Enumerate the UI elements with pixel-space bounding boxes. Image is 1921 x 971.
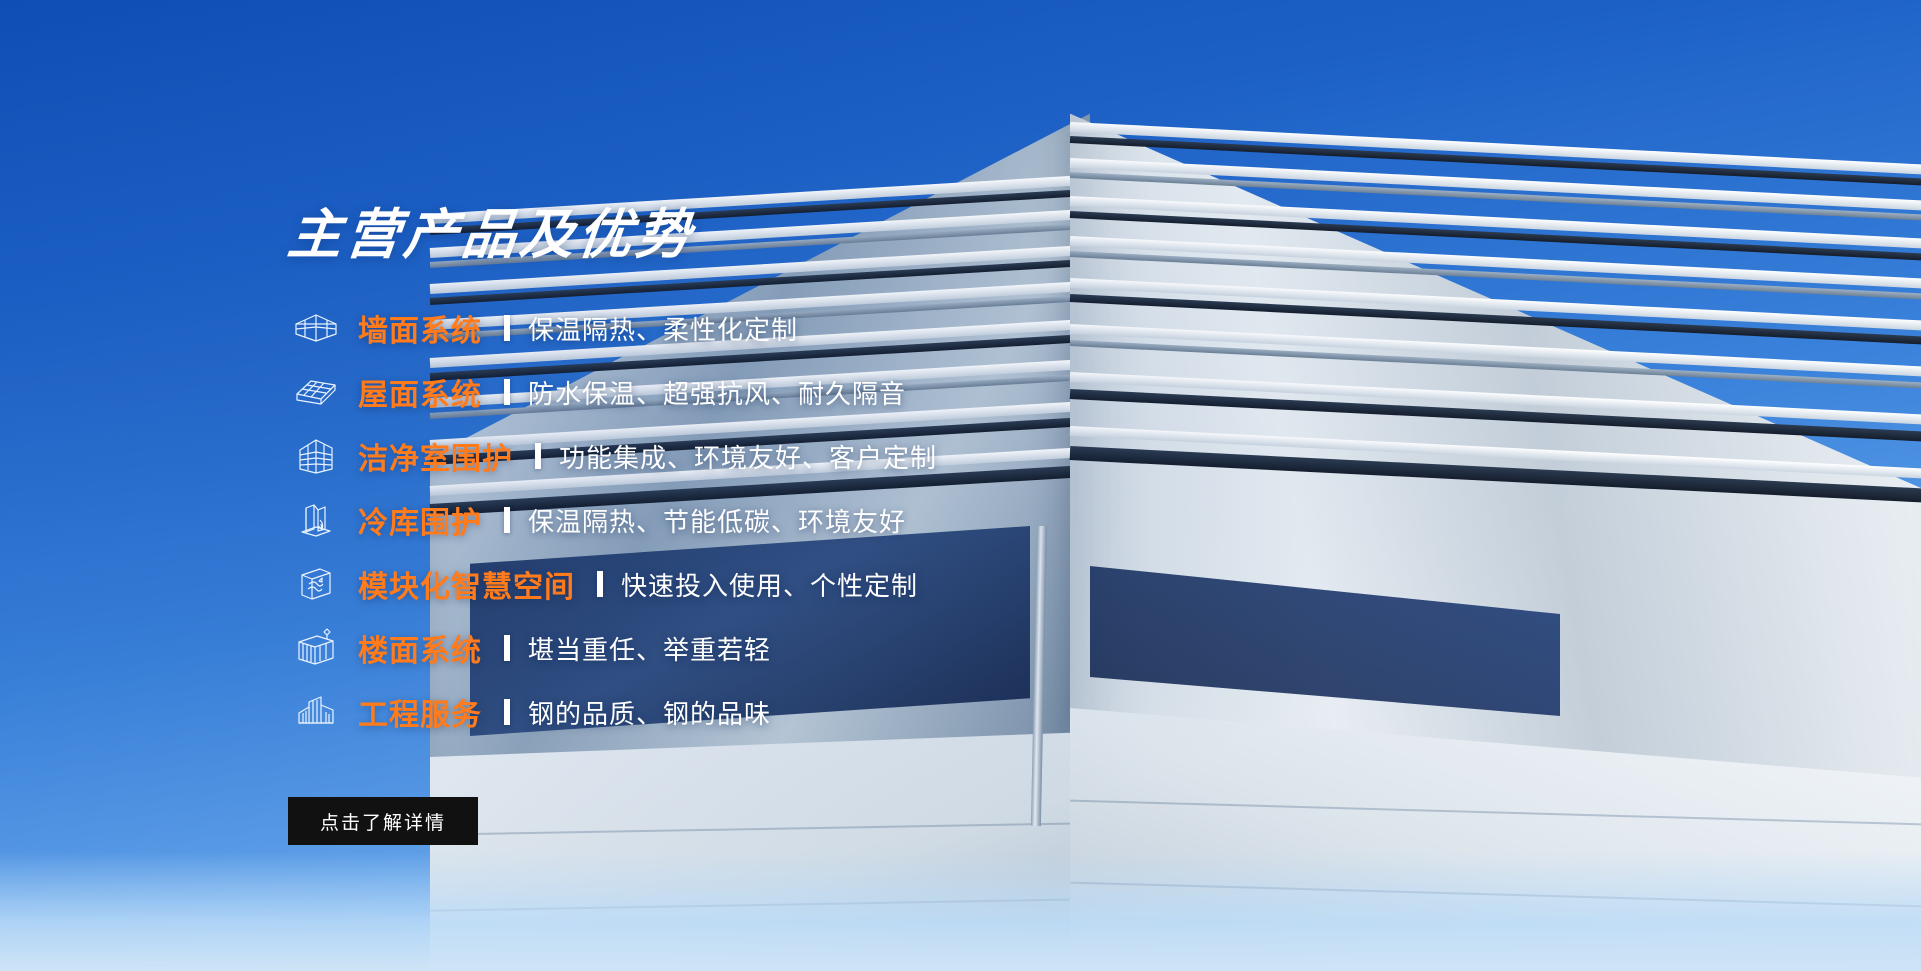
product-title: 楼面系统 — [358, 626, 482, 670]
learn-more-button[interactable]: 点击了解详情 — [288, 797, 478, 845]
wall-panel-icon — [288, 306, 344, 350]
hero-content: 主营产品及优势 墙面系统 保温隔热、柔性化定制 — [0, 0, 1921, 971]
row-divider — [535, 443, 541, 469]
roof-panel-icon — [288, 370, 344, 414]
product-row-modular-smart-space[interactable]: 模块化智慧空间 快速投入使用、个性定制 — [288, 552, 1288, 616]
product-row-floor-system[interactable]: 楼面系统 堪当重任、举重若轻 — [288, 616, 1288, 680]
product-row-wall-system[interactable]: 墙面系统 保温隔热、柔性化定制 — [288, 296, 1288, 360]
floor-system-icon — [288, 626, 344, 670]
cold-storage-icon — [288, 498, 344, 542]
product-title: 工程服务 — [358, 690, 482, 734]
product-row-cold-storage[interactable]: 冷库围护 保温隔热、节能低碳、环境友好 — [288, 488, 1288, 552]
row-divider — [504, 699, 510, 725]
row-divider — [504, 507, 510, 533]
hero-banner: 主营产品及优势 墙面系统 保温隔热、柔性化定制 — [0, 0, 1921, 971]
product-title: 冷库围护 — [358, 498, 482, 542]
product-list: 墙面系统 保温隔热、柔性化定制 屋面系统 防水保温、超强抗风、 — [288, 296, 1288, 744]
cleanroom-building-icon — [288, 434, 344, 478]
product-row-engineering-service[interactable]: 工程服务 钢的品质、钢的品味 — [288, 680, 1288, 744]
product-title: 屋面系统 — [358, 370, 482, 414]
row-divider — [597, 571, 603, 597]
row-divider — [504, 635, 510, 661]
product-desc: 防水保温、超强抗风、耐久隔音 — [528, 374, 906, 411]
product-row-roof-system[interactable]: 屋面系统 防水保温、超强抗风、耐久隔音 — [288, 360, 1288, 424]
product-title: 墙面系统 — [358, 306, 482, 350]
row-divider — [504, 379, 510, 405]
modular-cube-icon — [288, 562, 344, 606]
product-desc: 保温隔热、节能低碳、环境友好 — [528, 502, 906, 539]
product-desc: 堪当重任、举重若轻 — [528, 630, 771, 667]
product-title: 洁净室围护 — [358, 434, 513, 478]
engineering-service-icon — [288, 690, 344, 734]
row-divider — [504, 315, 510, 341]
page-title: 主营产品及优势 — [285, 206, 697, 265]
product-desc: 功能集成、环境友好、客户定制 — [559, 438, 937, 475]
product-desc: 保温隔热、柔性化定制 — [528, 310, 798, 347]
product-desc: 快速投入使用、个性定制 — [621, 566, 918, 603]
product-row-cleanroom-enclosure[interactable]: 洁净室围护 功能集成、环境友好、客户定制 — [288, 424, 1288, 488]
product-title: 模块化智慧空间 — [358, 562, 575, 606]
product-desc: 钢的品质、钢的品味 — [528, 694, 771, 731]
